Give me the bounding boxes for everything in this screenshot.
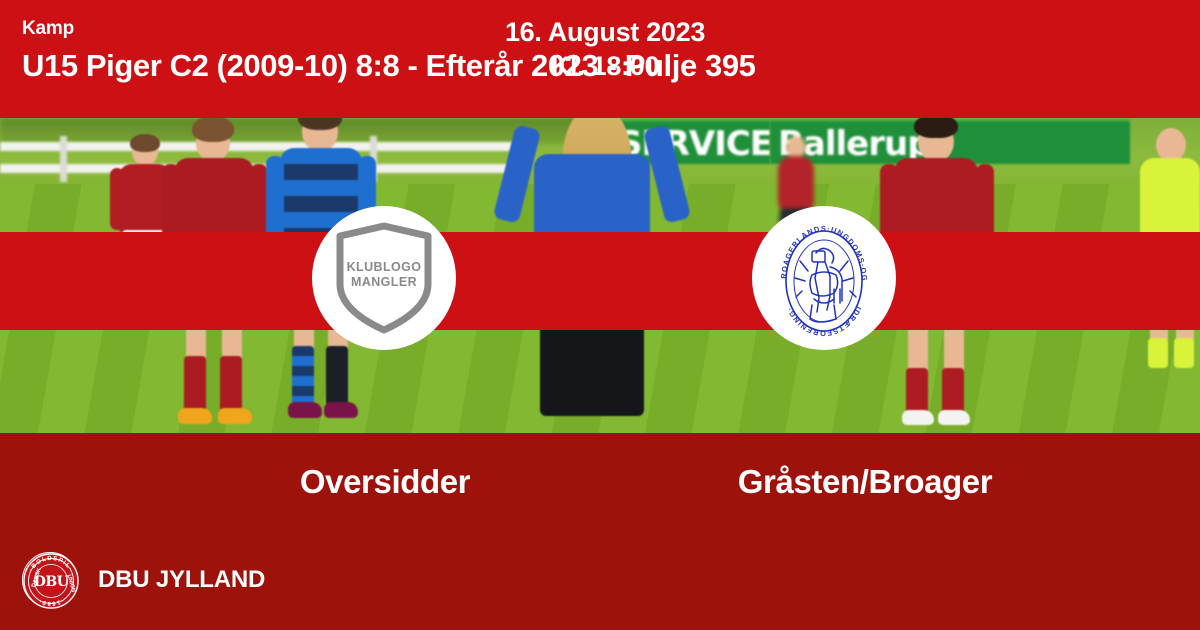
match-date: 16. August 2023 <box>505 15 705 49</box>
away-team-name: Gråsten/Broager <box>625 463 1105 501</box>
footer-bar: ·BOLDSPIL· ·1889· DANSK UNION DBU DBU JY… <box>0 530 1200 630</box>
club-crest-icon: BROAGERLANDS·UNGDOMS·OG· IDRÆTSFORENING· <box>772 219 876 337</box>
match-poster: Kamp U15 Piger C2 (2009-10) 8:8 - Efterå… <box>0 0 1200 630</box>
footer-organisation-label: DBU JYLLAND <box>98 566 265 594</box>
team-names-band: Oversidder Gråsten/Broager <box>0 433 1200 530</box>
shield-placeholder-label: KLUBLOGO MANGLER <box>332 260 436 290</box>
svg-text:DBU: DBU <box>34 574 69 590</box>
shield-label-line1: KLUBLOGO <box>332 260 436 275</box>
svg-text:IDRÆTSFORENING·: IDRÆTSFORENING· <box>785 305 864 337</box>
match-date-banner <box>0 232 1200 330</box>
match-time: Kl. 18:00 <box>551 49 659 83</box>
fence-post <box>60 136 67 182</box>
home-team-name: Oversidder <box>145 463 625 501</box>
away-club-badge[interactable]: BROAGERLANDS·UNGDOMS·OG· IDRÆTSFORENING· <box>752 206 896 350</box>
shield-placeholder-icon: KLUBLOGO MANGLER <box>332 222 436 334</box>
home-club-badge[interactable]: KLUBLOGO MANGLER <box>312 206 456 350</box>
dbu-logo-icon: ·BOLDSPIL· ·1889· DANSK UNION DBU <box>22 552 78 608</box>
shield-label-line2: MANGLER <box>332 275 436 290</box>
match-datetime: 16. August 2023 Kl. 18:00 <box>455 0 755 98</box>
